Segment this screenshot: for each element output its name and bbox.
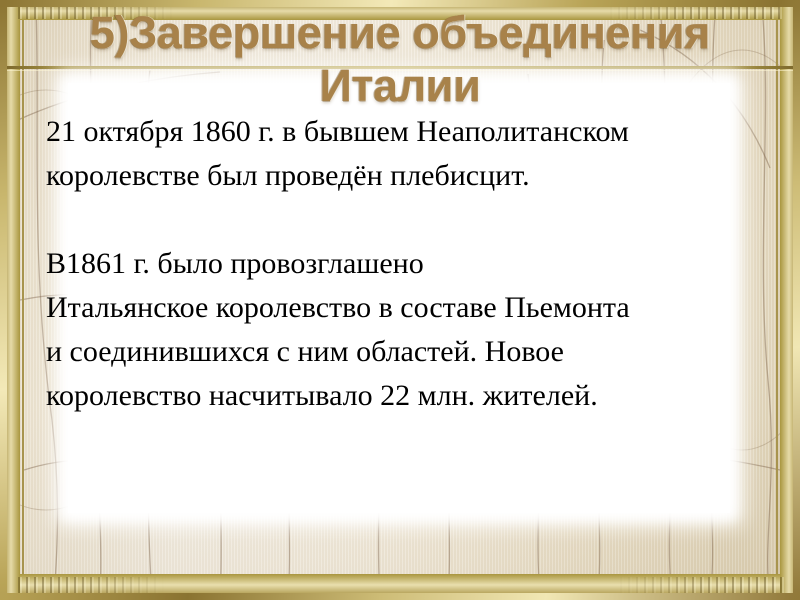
slide-title: 5)Завершение объединения Италии	[14, 6, 786, 112]
presentation-slide: 5)Завершение объединения Италии 21 октяб…	[0, 0, 800, 600]
slide-body-text: 21 октября 1860 г. в бывшем Неаполитанск…	[46, 110, 758, 418]
